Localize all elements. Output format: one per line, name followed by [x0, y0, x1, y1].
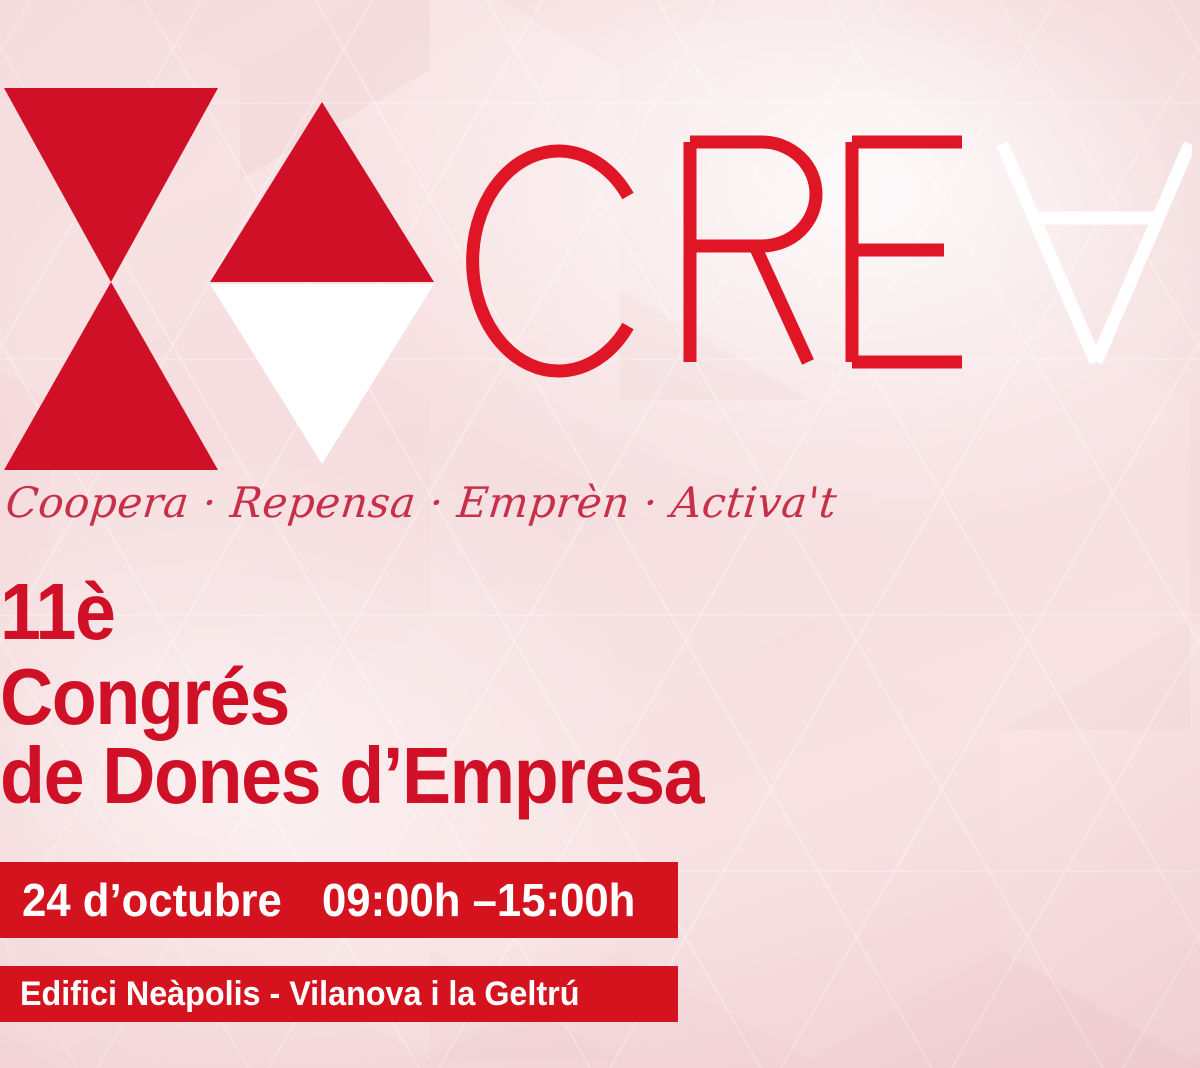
triangle-up-icon	[210, 102, 434, 282]
letter-r	[690, 142, 816, 362]
time-text: 09:00h –15:00h	[322, 873, 635, 927]
crea-wordmark	[462, 112, 1192, 380]
crea-logo-mark	[0, 86, 470, 472]
letter-e	[852, 142, 962, 362]
page-title: 11è Congrés de Dones d’Empresa	[0, 574, 880, 814]
triangle-down-icon	[210, 284, 434, 464]
venue-text: Edifici Neàpolis - Vilanova i la Geltrú	[20, 975, 579, 1014]
hourglass-top-triangle-icon	[4, 88, 218, 282]
tagline: Coopera · Repensa · Emprèn · Activa't	[3, 478, 839, 527]
date-text: 24 d’octubre	[22, 873, 282, 927]
hourglass-bottom-triangle-icon	[4, 282, 218, 470]
headline-line-1: 11è	[0, 574, 810, 651]
headline-line-2: Congrés	[0, 659, 810, 736]
event-poster: Coopera · Repensa · Emprèn · Activa't 11…	[0, 0, 1200, 1068]
venue-banner: Edifici Neàpolis - Vilanova i la Geltrú	[0, 966, 678, 1022]
headline-line-3: de Dones d’Empresa	[0, 738, 810, 815]
date-time-banner: 24 d’octubre 09:00h –15:00h	[0, 862, 678, 938]
letter-c	[473, 151, 628, 371]
letter-a-inverted	[1002, 144, 1190, 362]
